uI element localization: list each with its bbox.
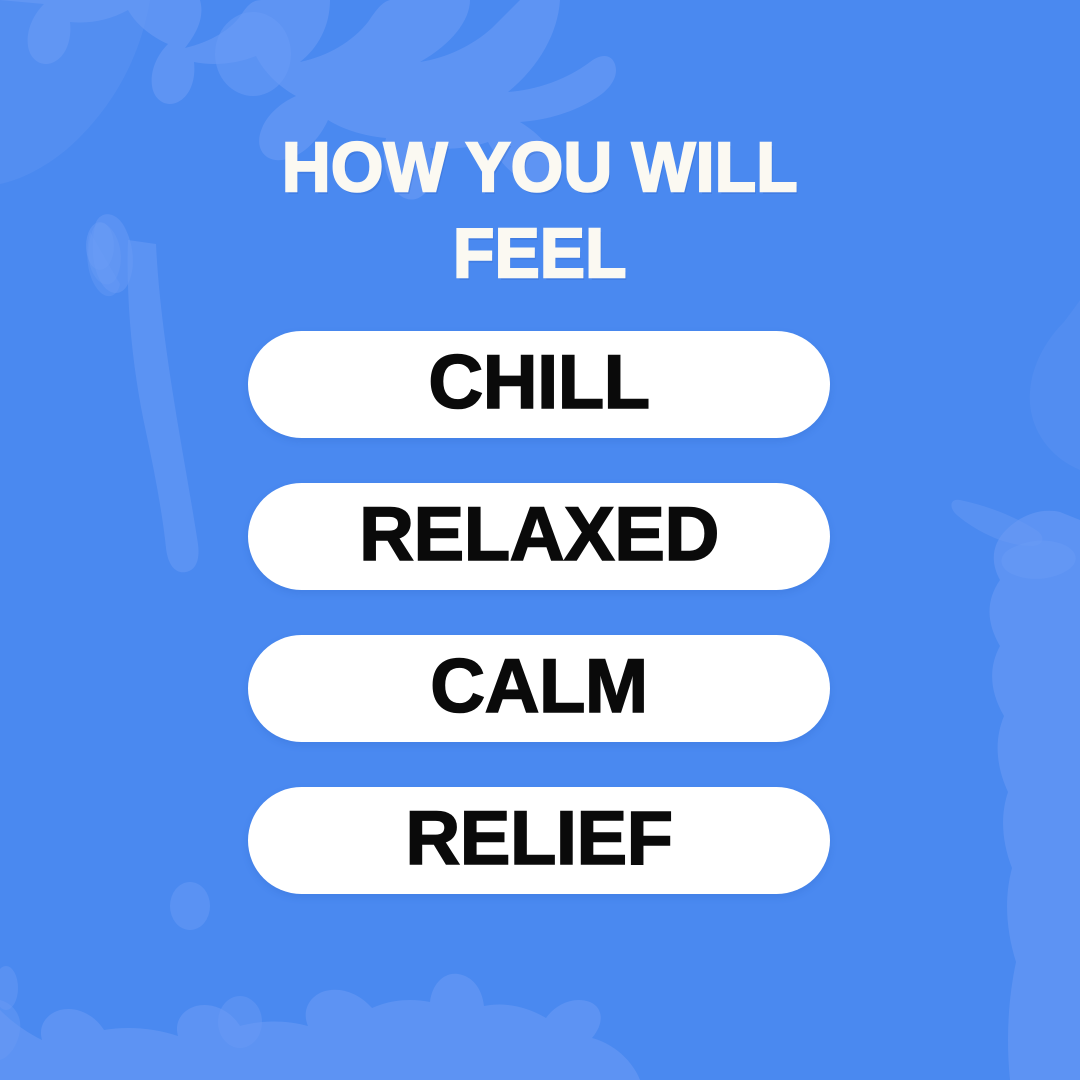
feeling-pill-label: CHILL [428, 345, 649, 421]
feeling-pill-relaxed[interactable]: RELAXED [248, 483, 830, 590]
page-title-line-1: HOW YOU WILL [22, 124, 1059, 210]
feeling-pill-chill[interactable]: CHILL [248, 331, 830, 438]
feeling-pill-label: RELAXED [359, 497, 719, 573]
page-title-line-2: FEEL [22, 210, 1059, 296]
feeling-pill-relief[interactable]: RELIEF [248, 787, 830, 894]
poster-canvas: HOW YOU WILL FEEL CHILL RELAXED CALM REL… [0, 0, 1080, 1080]
feeling-pill-label: CALM [430, 649, 648, 725]
feeling-pill-list: CHILL RELAXED CALM RELIEF [248, 331, 830, 894]
feeling-pill-label: RELIEF [405, 801, 672, 877]
feeling-pill-calm[interactable]: CALM [248, 635, 830, 742]
page-title: HOW YOU WILL FEEL [0, 124, 1080, 296]
